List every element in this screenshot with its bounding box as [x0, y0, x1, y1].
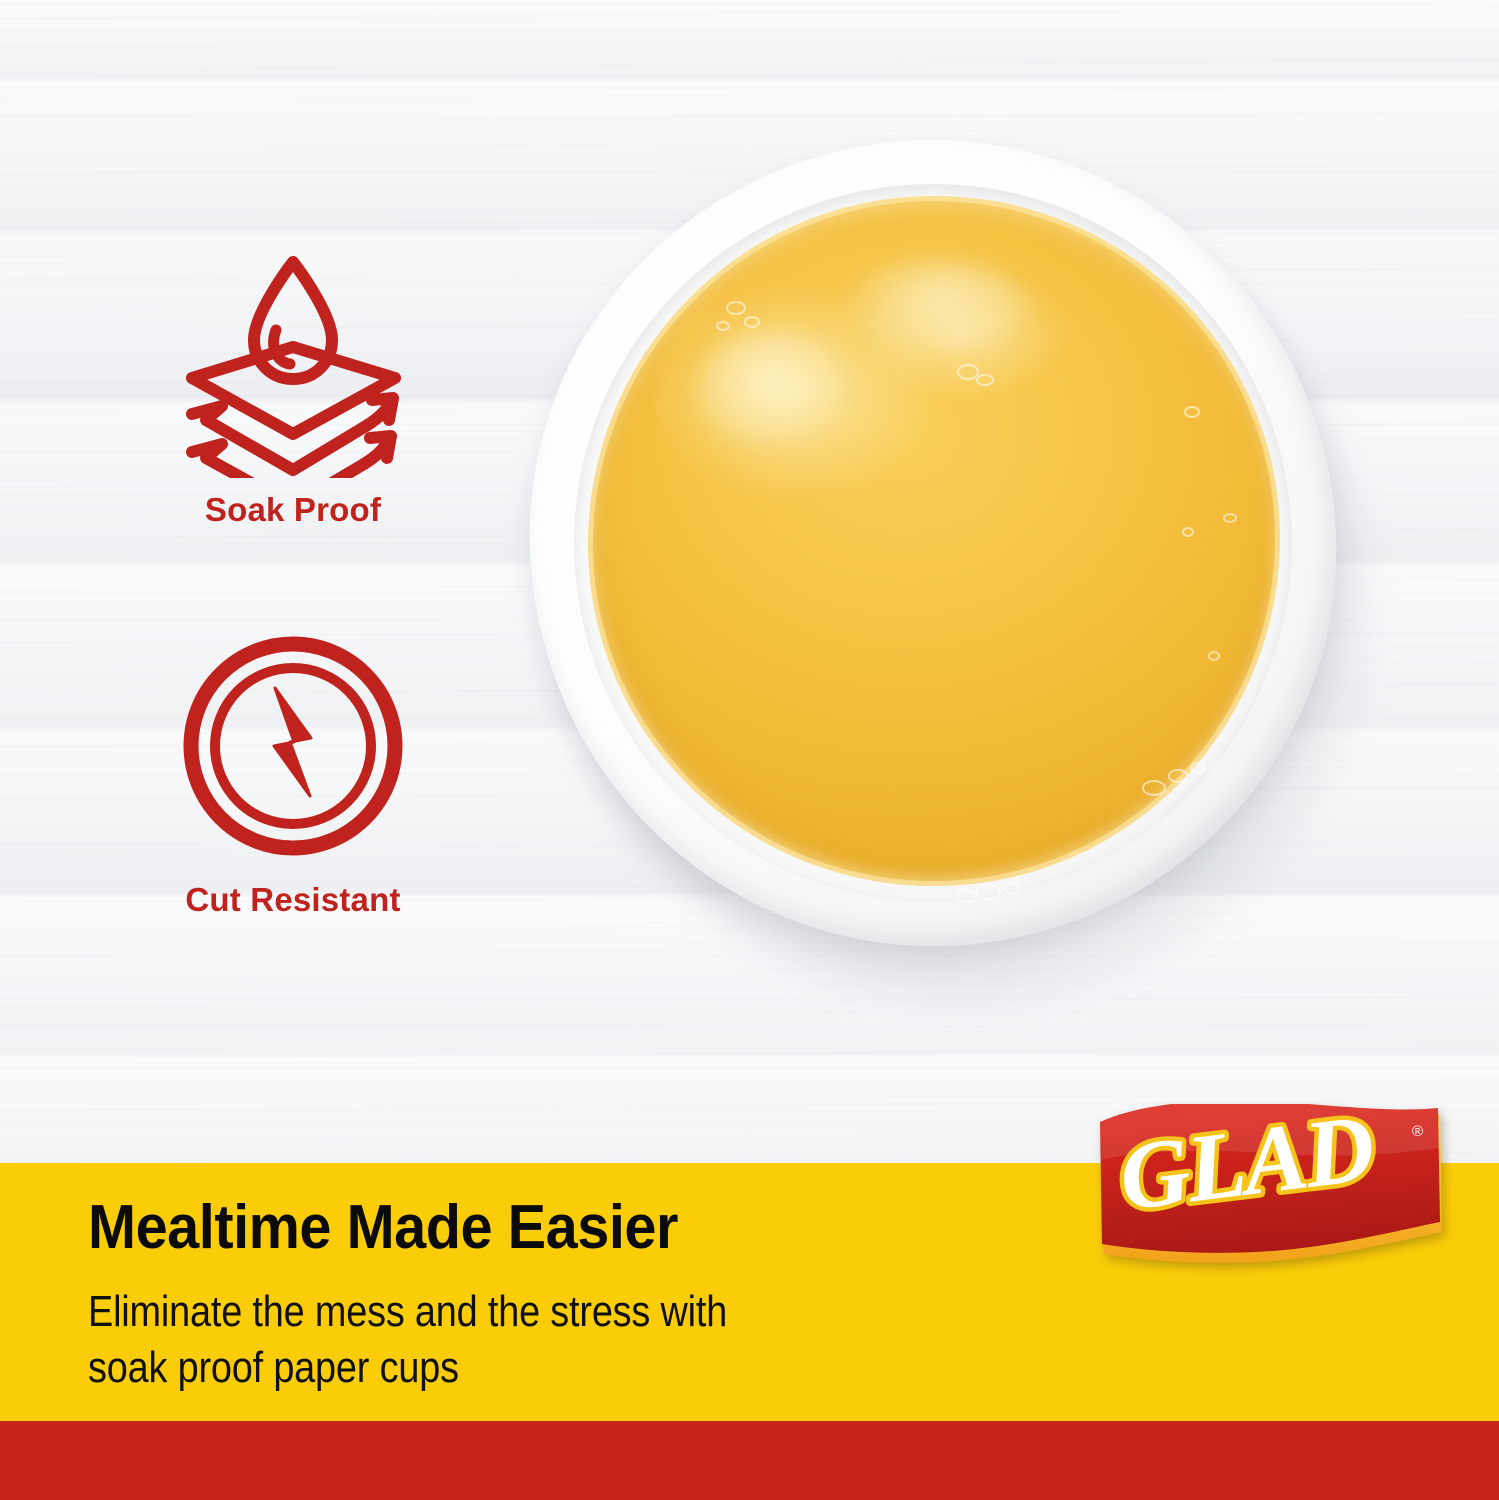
feature-soak-proof: Soak Proof — [118, 248, 468, 529]
feature-label-soak-proof: Soak Proof — [118, 491, 468, 529]
red-footer-stripe — [0, 1421, 1499, 1500]
feature-cut-resistant: Cut Resistant — [118, 632, 468, 919]
glad-logo: GLAD GLAD ® — [1090, 1104, 1450, 1284]
product-marketing-image: Soak Proof Cut Resistant Mealtime Made E… — [0, 0, 1499, 1500]
bolt-glyph — [274, 688, 311, 796]
water-drop-on-stacked-layers-icon — [176, 248, 411, 478]
juice-highlight-left — [698, 330, 848, 448]
banner-subcopy: Eliminate the mess and the stress with s… — [88, 1284, 727, 1396]
feature-label-cut-resistant: Cut Resistant — [118, 881, 468, 919]
lightning-bolt-in-circles-icon — [176, 632, 411, 862]
registered-trademark-icon: ® — [1412, 1123, 1423, 1140]
paper-cup-product-photo — [530, 140, 1370, 990]
banner-headline: Mealtime Made Easier — [88, 1192, 678, 1263]
juice-highlight-top — [848, 258, 1030, 354]
